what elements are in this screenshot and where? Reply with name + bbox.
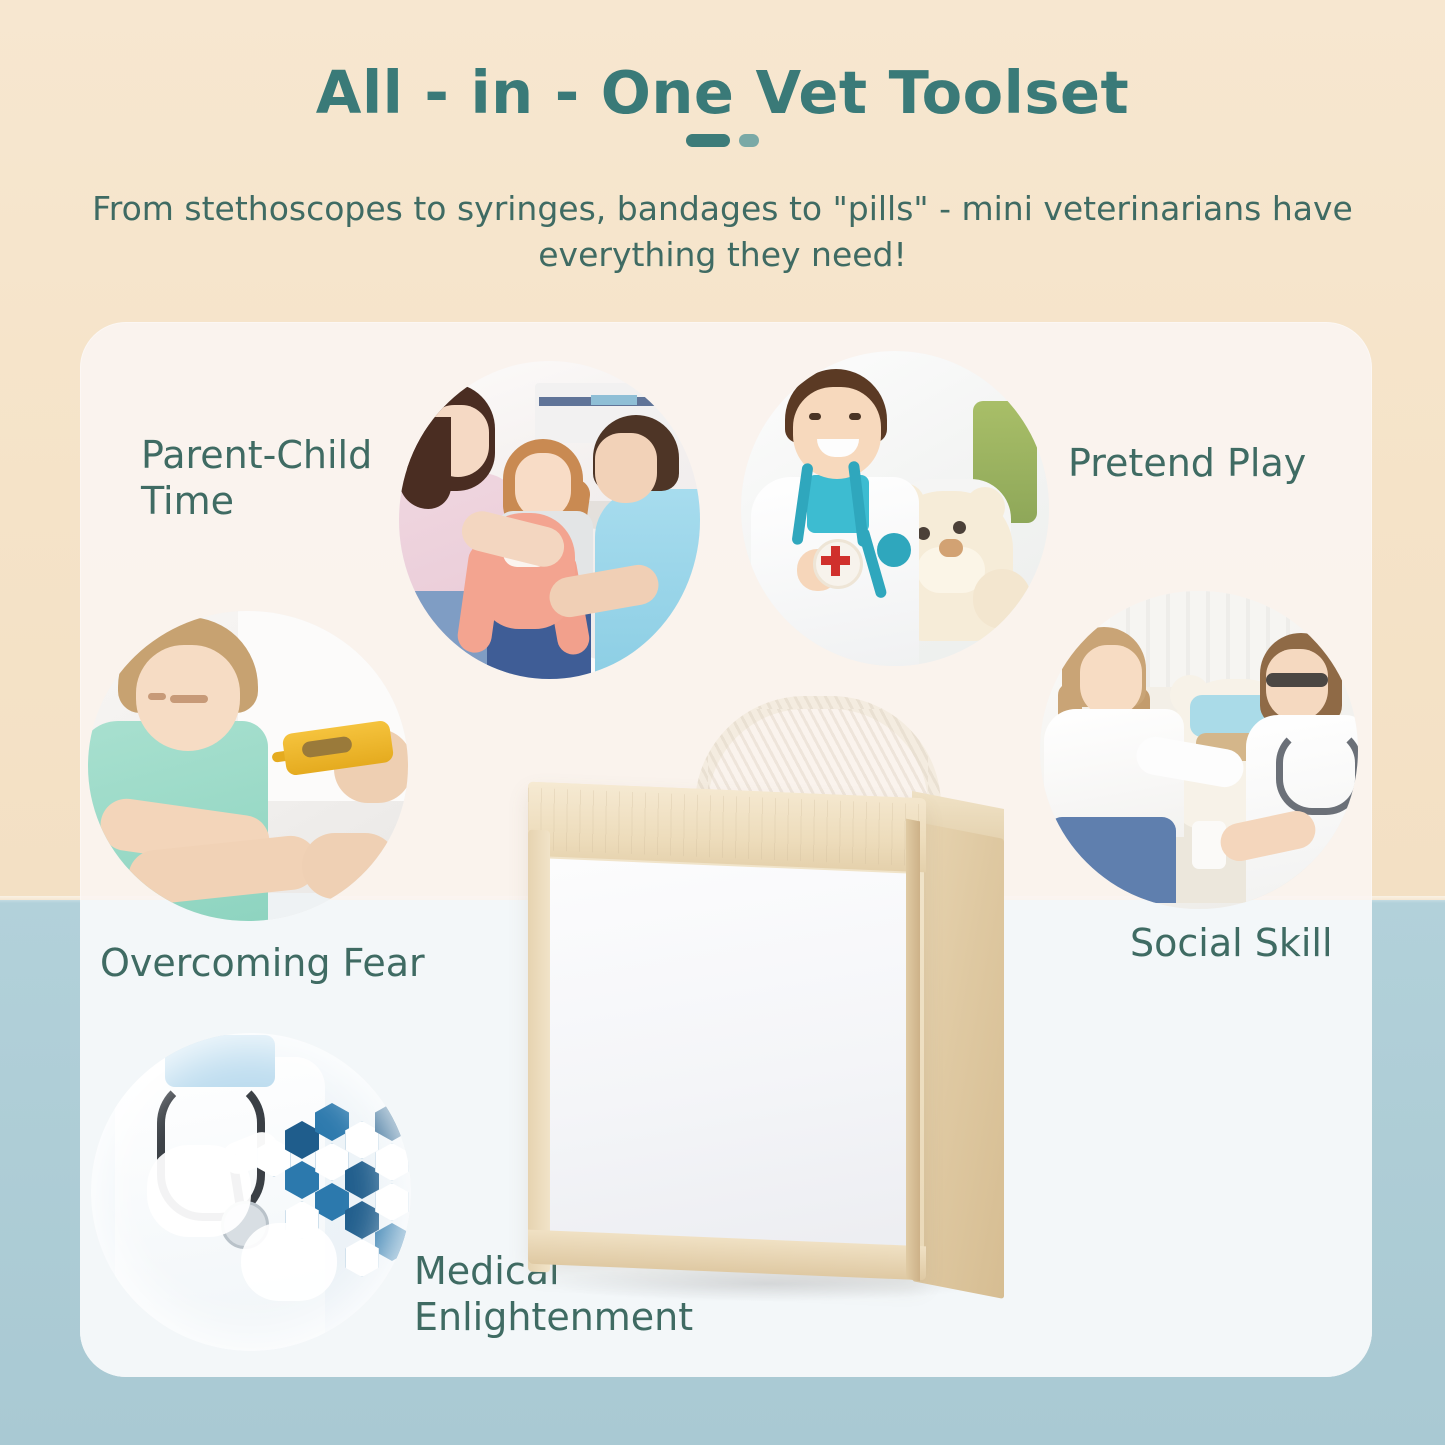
photo-pretend-play — [741, 351, 1049, 666]
case-right-edge — [906, 819, 920, 1282]
feature-label-pretend-play: Pretend Play — [1068, 440, 1348, 486]
case-white-panel — [548, 858, 908, 1257]
feature-label-parent-child-time: Parent-Child Time — [141, 432, 401, 525]
decoration-dot — [739, 134, 759, 147]
page-title: All - in - One Vet Toolset — [0, 58, 1445, 127]
case-right-side — [912, 821, 1004, 1299]
title-underline-decoration — [0, 132, 1445, 148]
product-wooden-vet-case — [520, 690, 1080, 1320]
photo-parent-child-time — [399, 361, 700, 679]
photo-overcoming-fear — [88, 611, 408, 921]
infographic-canvas: All - in - One Vet Toolset From stethosc… — [0, 0, 1445, 1445]
feature-label-overcoming-fear: Overcoming Fear — [100, 940, 440, 986]
feature-label-social-skill: Social Skill — [1130, 920, 1390, 966]
decoration-bar — [686, 134, 730, 147]
page-subtitle: From stethoscopes to syringes, bandages … — [60, 186, 1385, 277]
case-left-frame — [528, 830, 550, 1273]
photo-medical-enlightenment — [91, 1033, 411, 1351]
photo-social-skill — [1040, 591, 1358, 909]
